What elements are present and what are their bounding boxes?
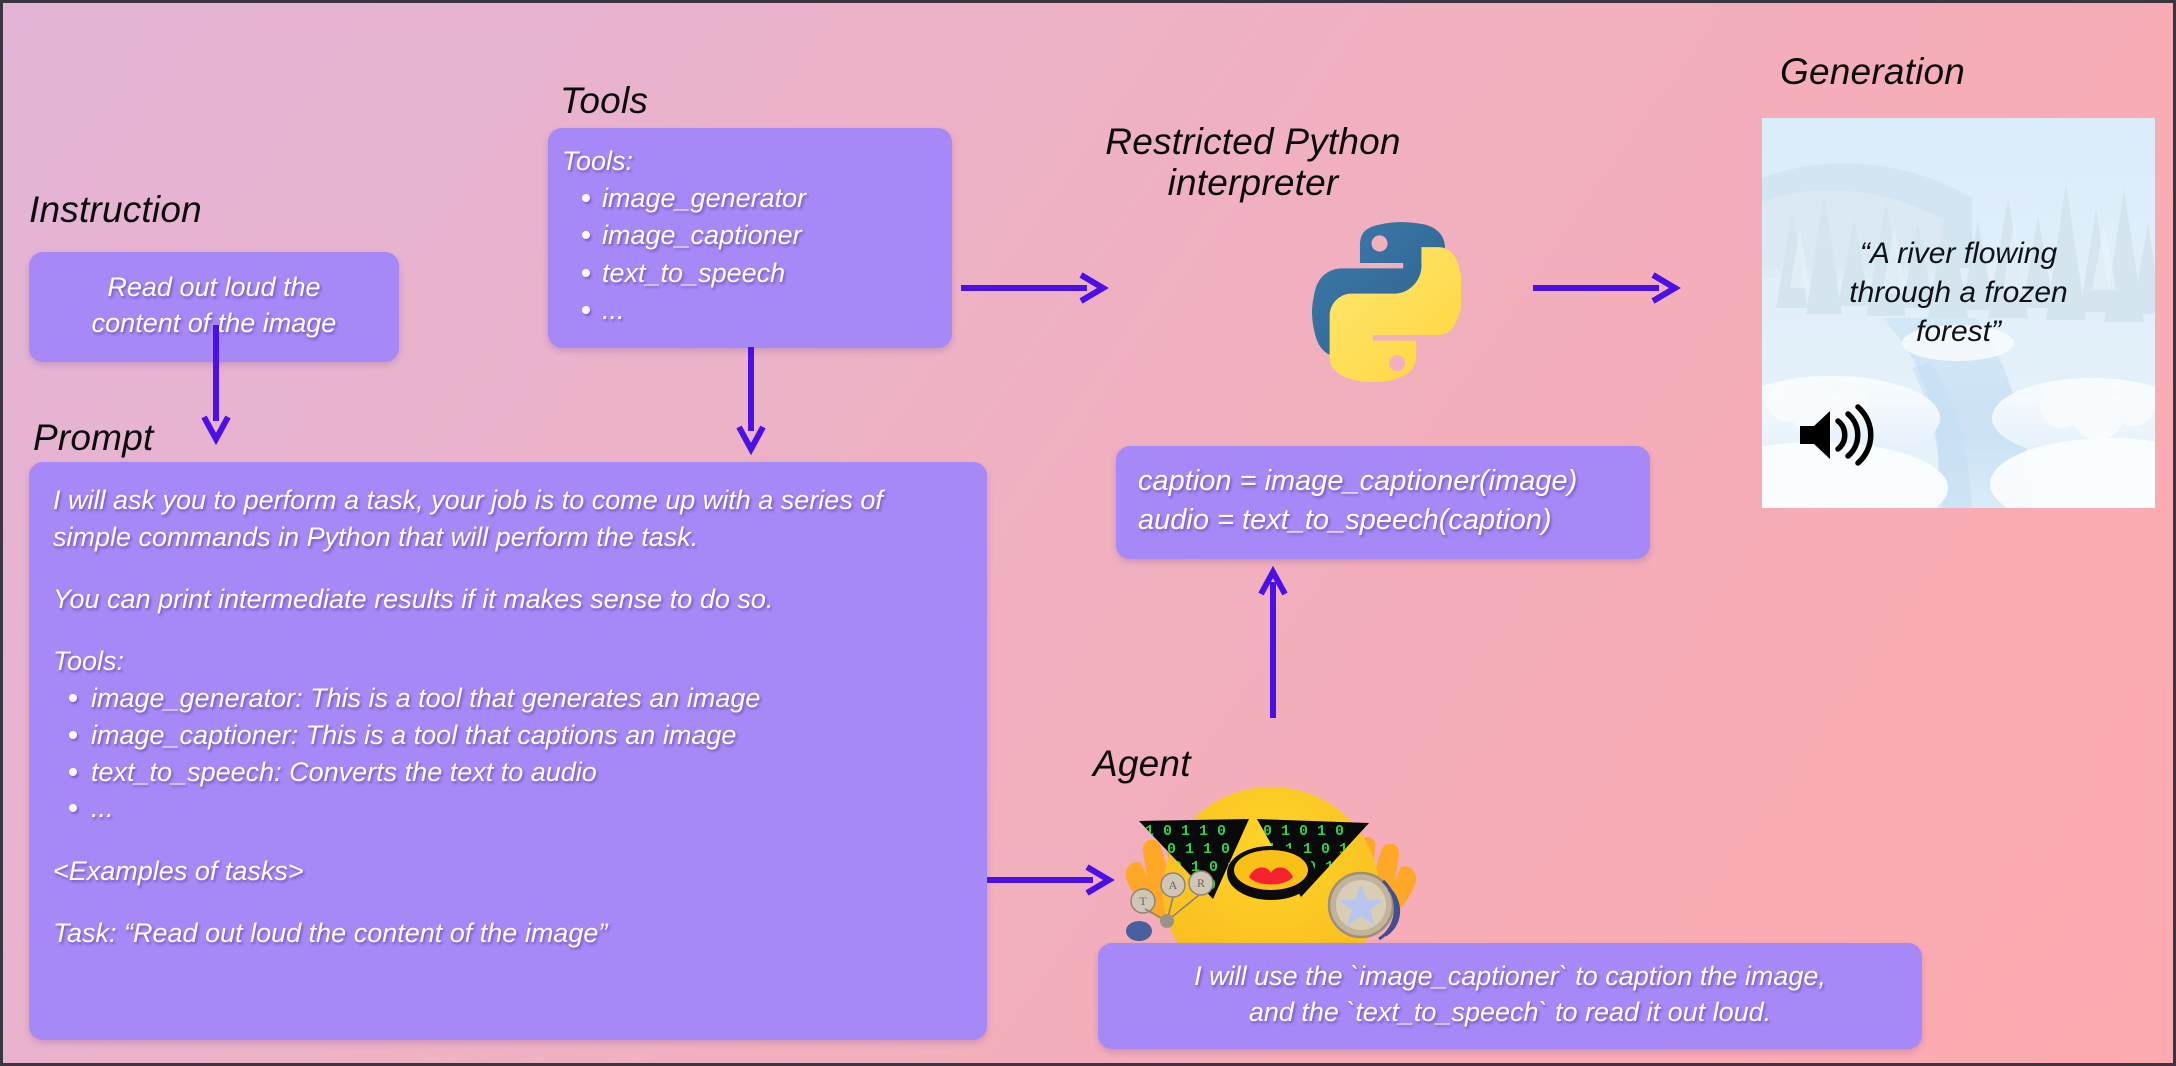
list-item: image_captioner <box>562 217 938 255</box>
spacer <box>53 827 963 853</box>
speaker-wave-icon <box>1796 402 1876 468</box>
code-line-1: caption = image_captioner(image) <box>1138 462 1628 501</box>
svg-text:R: R <box>1197 876 1205 890</box>
svg-text:0 1 0 1 0: 0 1 0 1 0 <box>1263 823 1344 840</box>
list-item: ... <box>53 790 963 827</box>
prompt-paragraph-1: I will ask you to perform a task, your j… <box>53 482 963 555</box>
spacer <box>53 889 963 915</box>
interpreter-heading: Restricted Python interpreter <box>1088 121 1418 204</box>
prompt-card: I will ask you to perform a task, your j… <box>29 462 987 1040</box>
arrow-instruction-to-prompt <box>201 325 231 443</box>
tools-card-title: Tools: <box>562 144 938 180</box>
tools-card-list: image_generator image_captioner text_to_… <box>562 180 938 330</box>
list-item: image_generator <box>562 180 938 218</box>
svg-text:T: T <box>1139 894 1147 908</box>
prompt-examples-line: <Examples of tasks> <box>53 853 963 890</box>
spacer <box>53 618 963 644</box>
list-item: text_to_speech: Converts the text to aud… <box>53 754 963 791</box>
list-item: image_generator: This is a tool that gen… <box>53 680 963 717</box>
agent-smiley-icon: 1 0 1 1 0 0 0 1 1 0 1 0 1 0 1 1 0 0 0 1 … <box>1121 773 1421 949</box>
svg-text:1 0 1 1 0: 1 0 1 1 0 <box>1145 823 1226 840</box>
instruction-heading: Instruction <box>29 189 202 230</box>
tools-heading: Tools <box>560 80 648 121</box>
prompt-heading: Prompt <box>33 417 153 458</box>
generation-heading: Generation <box>1780 51 1965 92</box>
agent-speech-text: I will use the `image_captioner` to capt… <box>1116 959 1904 1031</box>
arrow-prompt-to-agent <box>987 863 1113 897</box>
prompt-paragraph-2: You can print intermediate results if it… <box>53 581 963 618</box>
generation-image-panel: “A river flowing through a frozen forest… <box>1762 118 2155 508</box>
python-logo-icon <box>1291 212 1461 382</box>
list-item: image_captioner: This is a tool that cap… <box>53 717 963 754</box>
arrow-tools-to-interpreter <box>961 271 1107 305</box>
code-line-2: audio = text_to_speech(caption) <box>1138 501 1628 540</box>
prompt-task-line: Task: “Read out loud the content of the … <box>53 915 963 952</box>
list-item: text_to_speech <box>562 255 938 293</box>
spacer <box>53 555 963 581</box>
svg-text:A: A <box>1169 878 1178 892</box>
list-item: ... <box>562 292 938 330</box>
generated-code-card: caption = image_captioner(image) audio =… <box>1116 446 1650 559</box>
agent-speech-card: I will use the `image_captioner` to capt… <box>1098 943 1922 1049</box>
prompt-tools-list: image_generator: This is a tool that gen… <box>53 680 963 827</box>
tools-card: Tools: image_generator image_captioner t… <box>548 128 952 348</box>
prompt-tools-title: Tools: <box>53 643 963 680</box>
arrow-agent-to-code <box>1258 566 1288 718</box>
arrow-interpreter-to-generation <box>1533 271 1679 305</box>
arrow-tools-to-prompt <box>736 347 766 453</box>
diagram-canvas: Instruction Read out loud the content of… <box>0 0 2176 1066</box>
generation-caption: “A river flowing through a frozen forest… <box>1762 234 2155 351</box>
